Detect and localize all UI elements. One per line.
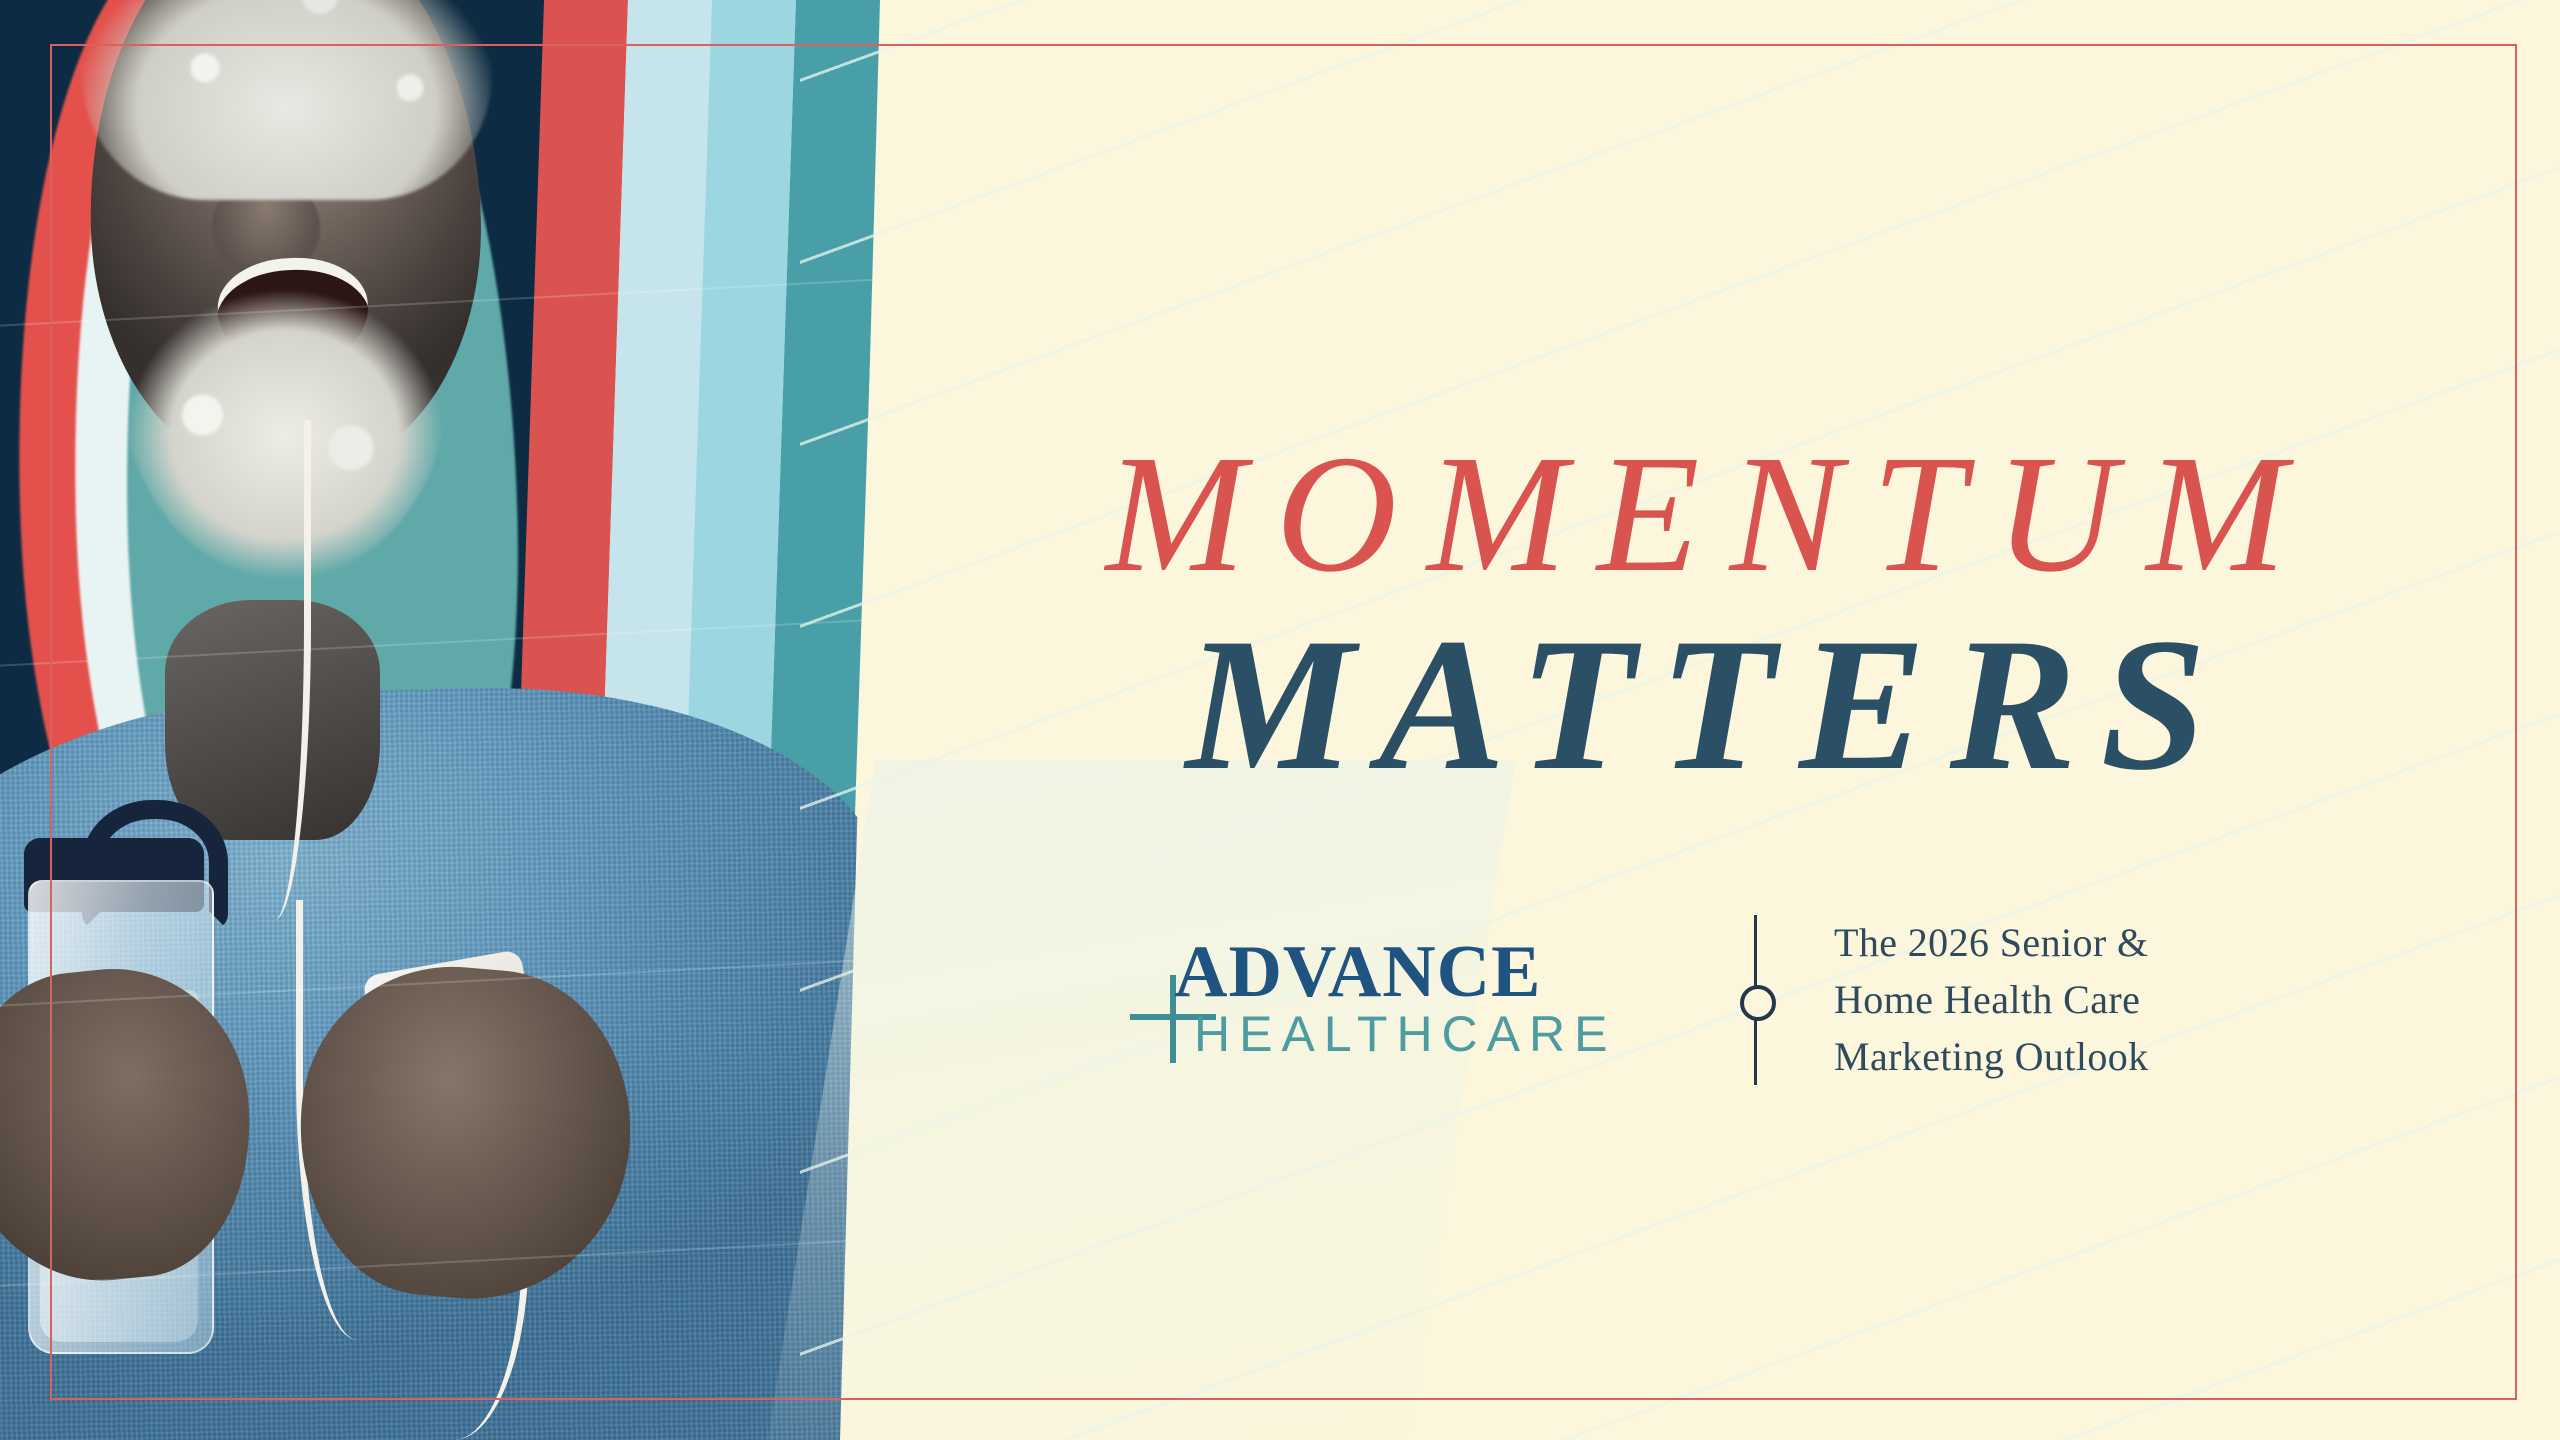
white-hair — [82, 0, 492, 200]
advance-healthcare-logo[interactable]: ADVANCE HEALTHCARE — [1130, 935, 1690, 1065]
title-line-momentum: MOMENTUM — [922, 430, 2500, 598]
title-block: MOMENTUM MATTERS — [900, 430, 2500, 800]
photo-scanline — [0, 611, 900, 671]
brand-row: ADVANCE HEALTHCARE The 2026 Senior & Hom… — [1130, 915, 2149, 1085]
presentation-slide: MOMENTUM MATTERS ADVANCE HEALTHCARE The … — [0, 0, 2560, 1440]
background-wash — [765, 760, 1516, 1440]
title-line-matters: MATTERS — [916, 610, 2500, 800]
vertical-dot-divider-icon — [1690, 915, 1820, 1085]
logo-wordmark-healthcare: HEALTHCARE — [1194, 1009, 1616, 1059]
senior-man-photo — [0, 0, 900, 1440]
logo-wordmark-advance: ADVANCE — [1174, 935, 1541, 1009]
subtitle-tagline: The 2026 Senior & Home Health Care Marke… — [1834, 915, 2149, 1085]
hero-photo-panel — [0, 0, 900, 1440]
